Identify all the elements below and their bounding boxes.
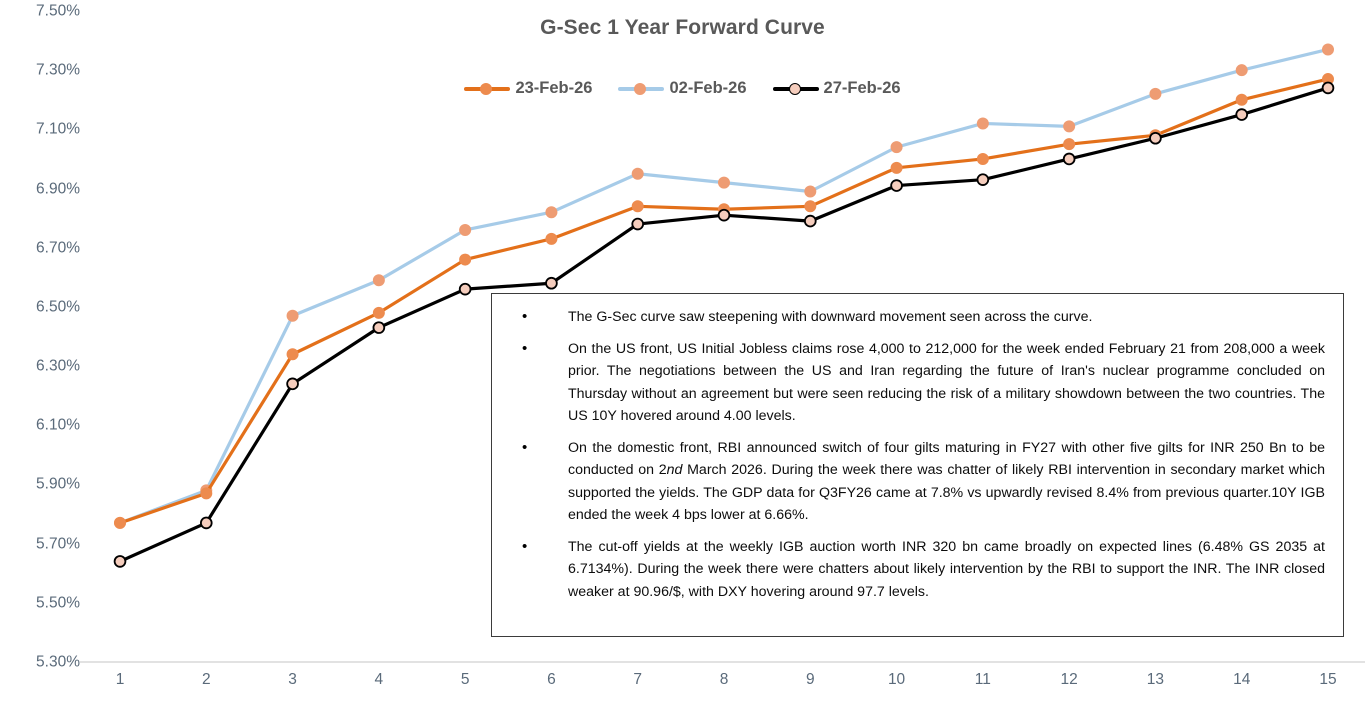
- chart-page: G-Sec 1 Year Forward Curve 23-Feb-2602-F…: [0, 0, 1365, 710]
- y-axis-tick-label: 5.30%: [8, 654, 80, 670]
- y-axis-tick-label: 5.90%: [8, 477, 80, 493]
- bullet-us-front: •On the US front, US Initial Jobless cla…: [506, 338, 1329, 428]
- data-point-marker: [546, 278, 557, 289]
- x-axis-tick-label: 11: [975, 671, 991, 689]
- data-point-marker: [805, 201, 816, 212]
- x-axis-tick-label: 3: [288, 671, 297, 689]
- data-point-marker: [1064, 139, 1075, 150]
- data-point-marker: [1150, 133, 1161, 144]
- data-point-marker: [460, 254, 471, 265]
- y-axis: 7.50%7.30%7.10%6.90%6.70%6.50%6.30%6.10%…: [0, 0, 80, 710]
- data-point-marker: [201, 488, 212, 499]
- bullet-glyph-icon: •: [506, 536, 568, 558]
- x-axis-tick-label: 15: [1319, 671, 1336, 689]
- x-axis-tick-label: 1: [116, 671, 125, 689]
- data-point-marker: [1150, 88, 1161, 99]
- data-point-marker: [1064, 154, 1075, 165]
- x-axis-tick-label: 5: [461, 671, 470, 689]
- y-axis-tick-label: 7.10%: [8, 122, 80, 138]
- data-point-marker: [1064, 121, 1075, 132]
- data-point-marker: [891, 142, 902, 153]
- commentary-box: •The G-Sec curve saw steepening with dow…: [491, 293, 1344, 637]
- data-point-marker: [719, 210, 730, 221]
- data-point-marker: [977, 174, 988, 185]
- data-point-marker: [1323, 44, 1334, 55]
- bullet-gsec-curve: •The G-Sec curve saw steepening with dow…: [506, 306, 1329, 329]
- bullet-domestic-front: •On the domestic front, RBI announced sw…: [506, 437, 1329, 527]
- x-axis-tick-label: 2: [202, 671, 211, 689]
- data-point-marker: [201, 518, 212, 529]
- data-point-marker: [632, 168, 643, 179]
- bullet-text: On the domestic front, RBI announced swi…: [568, 437, 1329, 527]
- data-point-marker: [287, 310, 298, 321]
- data-point-marker: [1236, 109, 1247, 120]
- data-point-marker: [977, 154, 988, 165]
- x-axis-tick-label: 9: [806, 671, 815, 689]
- x-axis-tick-label: 6: [547, 671, 556, 689]
- bullet-cutoff-yields: •The cut-off yields at the weekly IGB au…: [506, 536, 1329, 604]
- data-point-marker: [460, 225, 471, 236]
- data-point-marker: [805, 186, 816, 197]
- y-axis-tick-label: 6.90%: [8, 181, 80, 197]
- data-point-marker: [1236, 94, 1247, 105]
- data-point-marker: [460, 284, 471, 295]
- data-point-marker: [719, 177, 730, 188]
- bullet-glyph-icon: •: [506, 338, 568, 360]
- y-axis-tick-label: 7.50%: [8, 3, 80, 19]
- bullet-text: On the US front, US Initial Jobless clai…: [568, 338, 1329, 428]
- data-point-marker: [373, 307, 384, 318]
- data-point-marker: [287, 378, 298, 389]
- data-point-marker: [891, 162, 902, 173]
- data-point-marker: [891, 180, 902, 191]
- data-point-marker: [1323, 83, 1334, 94]
- x-axis-tick-label: 14: [1233, 671, 1250, 689]
- data-point-marker: [115, 556, 126, 567]
- x-axis: 123456789101112131415: [0, 671, 1365, 701]
- x-axis-tick-label: 12: [1061, 671, 1078, 689]
- data-point-marker: [373, 275, 384, 286]
- data-point-marker: [115, 518, 126, 529]
- data-point-marker: [632, 201, 643, 212]
- bullet-text: The cut-off yields at the weekly IGB auc…: [568, 536, 1329, 604]
- y-axis-tick-label: 7.30%: [8, 62, 80, 78]
- data-point-marker: [632, 219, 643, 230]
- y-axis-tick-label: 5.50%: [8, 595, 80, 611]
- y-axis-tick-label: 6.30%: [8, 358, 80, 374]
- data-point-marker: [546, 207, 557, 218]
- x-axis-tick-label: 7: [633, 671, 642, 689]
- data-point-marker: [1236, 65, 1247, 76]
- data-point-marker: [287, 349, 298, 360]
- x-axis-tick-label: 10: [888, 671, 905, 689]
- y-axis-tick-label: 6.50%: [8, 299, 80, 315]
- y-axis-tick-label: 5.70%: [8, 536, 80, 552]
- y-axis-tick-label: 6.10%: [8, 418, 80, 434]
- bullet-glyph-icon: •: [506, 437, 568, 459]
- data-point-marker: [977, 118, 988, 129]
- x-axis-tick-label: 13: [1147, 671, 1164, 689]
- y-axis-tick-label: 6.70%: [8, 240, 80, 256]
- data-point-marker: [805, 216, 816, 227]
- x-axis-tick-label: 8: [720, 671, 729, 689]
- x-axis-tick-label: 4: [375, 671, 384, 689]
- data-point-marker: [546, 233, 557, 244]
- data-point-marker: [373, 322, 384, 333]
- bullet-glyph-icon: •: [506, 306, 568, 328]
- bullet-text: The G-Sec curve saw steepening with down…: [568, 306, 1329, 329]
